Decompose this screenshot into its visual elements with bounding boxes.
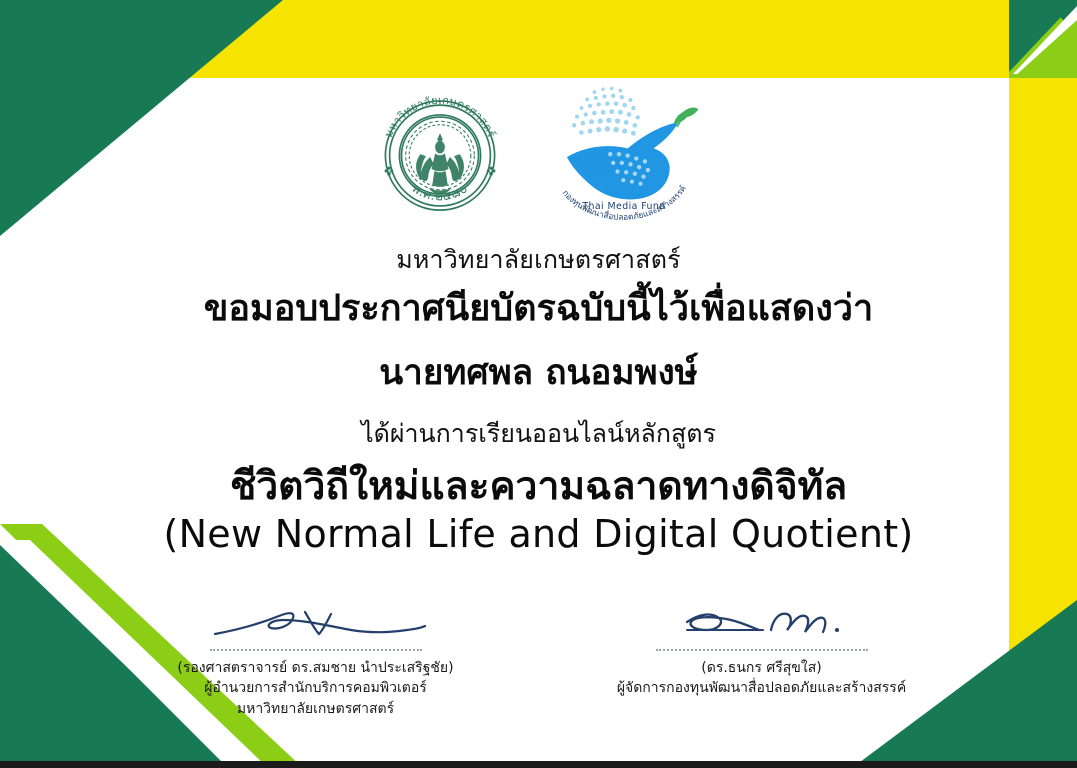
signature-row: (รองศาสตราจารย์ ดร.สมชาย นำประเสริฐชัย) … [0, 600, 1077, 719]
signature-rule-right [656, 649, 868, 651]
signature-block-left: (รองศาสตราจารย์ ดร.สมชาย นำประเสริฐชัย) … [166, 600, 466, 719]
olive-leaf-icon [673, 108, 698, 127]
signature-rule-left [210, 649, 422, 651]
tmf-english-name: Thai Media Fund [581, 201, 665, 212]
certificate-page: มหาวิทยาลัยเกษตรศาสตร์ พ.ศ.๒๔๘๐ [0, 0, 1077, 768]
signature-block-right: (ดร.ธนกร ศรีสุขใส) ผู้จัดการกองทุนพัฒนาส… [612, 600, 912, 719]
signature-role-left: ผู้อำนวยการสำนักบริการคอมพิวเตอร์ [204, 678, 427, 698]
logo-row: มหาวิทยาลัยเกษตรศาสตร์ พ.ศ.๒๔๘๐ [370, 82, 708, 232]
signature-name-left: (รองศาสตราจารย์ ดร.สมชาย นำประเสริฐชัย) [177, 658, 453, 678]
kasetsart-university-seal-icon: มหาวิทยาลัยเกษตรศาสตร์ พ.ศ.๒๔๘๐ [370, 82, 510, 227]
signature-name-right: (ดร.ธนกร ศรีสุขใส) [701, 658, 821, 678]
thai-media-fund-logo-icon: กองทุนพัฒนาสื่อปลอดภัยและสร้างสรรค์ Thai… [540, 82, 708, 230]
recipient-name: นายทศพล ถนอมพงษ์ [379, 352, 698, 394]
signature-role-right: ผู้จัดการกองทุนพัฒนาสื่อปลอดภัยและสร้างส… [617, 678, 906, 698]
issuer-line: มหาวิทยาลัยเกษตรศาสตร์ [396, 244, 681, 275]
signature-ink-right [647, 600, 877, 648]
headline: ขอมอบประกาศนียบัตรฉบับนี้ไว้เพื่อแสดงว่า [204, 287, 873, 330]
signature-org-left: มหาวิทยาลัยเกษตรศาสตร์ [237, 699, 394, 719]
passed-line: ได้ผ่านการเรียนออนไลน์หลักสูตร [361, 418, 716, 449]
course-title-english: (New Normal Life and Digital Quotient) [163, 512, 913, 558]
signature-ink-left [201, 600, 431, 648]
course-title-thai: ชีวิตวิถีใหม่และความฉลาดทางดิจิทัล [230, 464, 847, 510]
